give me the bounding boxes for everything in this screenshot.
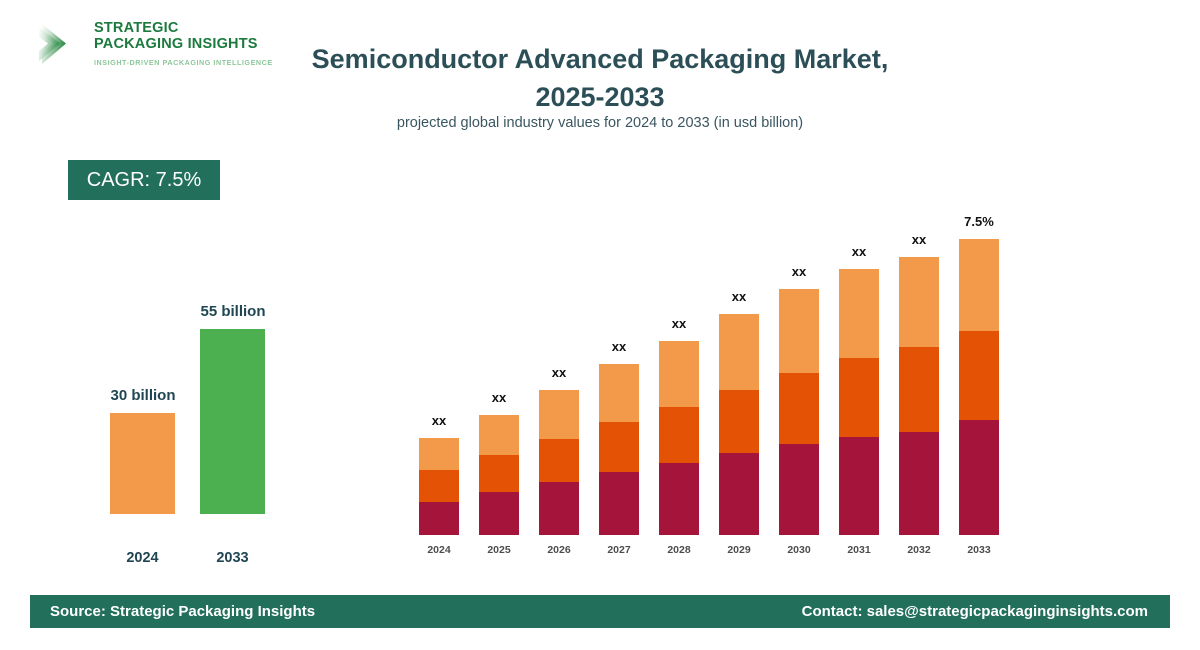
brand-tagline: INSIGHT-DRIVEN PACKAGING INTELLIGENCE bbox=[94, 58, 273, 67]
stacked-bar-value-label: 7.5% bbox=[953, 214, 1005, 229]
stacked-bar[interactable] bbox=[899, 257, 939, 535]
stacked-bar-segment-segment-1[interactable] bbox=[419, 502, 459, 535]
stacked-bar-group: xx2026 bbox=[533, 365, 585, 560]
stacked-bar-value-label: xx bbox=[773, 264, 825, 279]
stacked-bar-value-label: xx bbox=[533, 365, 585, 380]
page-title: Semiconductor Advanced Packaging Market,… bbox=[300, 40, 900, 116]
stacked-bar[interactable] bbox=[599, 364, 639, 535]
stacked-bar-segment-segment-3[interactable] bbox=[899, 257, 939, 347]
stacked-bar-value-label: xx bbox=[893, 232, 945, 247]
stacked-bar-segment-segment-1[interactable] bbox=[899, 432, 939, 535]
stacked-bar-segment-segment-1[interactable] bbox=[479, 492, 519, 535]
comparison-bar[interactable] bbox=[200, 329, 265, 514]
stacked-bar-value-label: xx bbox=[413, 413, 465, 428]
comparison-bar-group: 55 billion2033 bbox=[200, 329, 265, 540]
cagr-badge: CAGR: 7.5% bbox=[68, 160, 220, 200]
stacked-bar-segment-segment-2[interactable] bbox=[779, 373, 819, 444]
stacked-bar-segment-segment-2[interactable] bbox=[419, 470, 459, 502]
stacked-bar-segment-segment-2[interactable] bbox=[839, 358, 879, 437]
stacked-bar-group: xx2027 bbox=[593, 339, 645, 560]
brand-name-line2: PACKAGING INSIGHTS bbox=[94, 37, 273, 53]
stacked-bar-group: xx2031 bbox=[833, 244, 885, 560]
stacked-bar-segment-segment-3[interactable] bbox=[839, 269, 879, 358]
comparison-bar-year-label: 2033 bbox=[200, 550, 265, 566]
stacked-bar-segment-segment-2[interactable] bbox=[599, 422, 639, 472]
stacked-bar-group: xx2030 bbox=[773, 264, 825, 560]
stacked-bar-group: xx2029 bbox=[713, 289, 765, 560]
stacked-bar-segment-segment-3[interactable] bbox=[779, 289, 819, 373]
page-subtitle: projected global industry values for 202… bbox=[250, 115, 950, 131]
stacked-bar-segment-segment-2[interactable] bbox=[899, 347, 939, 432]
stacked-bar-group: 7.5%2033 bbox=[953, 214, 1005, 560]
comparison-bar-value-label: 55 billion bbox=[153, 303, 313, 320]
stacked-bar[interactable] bbox=[839, 269, 879, 535]
stacked-bar[interactable] bbox=[959, 239, 999, 535]
stacked-bar-year-label: 2024 bbox=[413, 544, 465, 556]
footer-contact-text: Contact: sales@strategicpackaginginsight… bbox=[802, 603, 1148, 620]
stacked-bar-segment-segment-2[interactable] bbox=[959, 331, 999, 420]
comparison-bar-chart: 30 billion202455 billion2033 bbox=[50, 310, 300, 570]
stacked-bar-year-label: 2028 bbox=[653, 544, 705, 556]
stacked-bar-group: xx2024 bbox=[413, 413, 465, 560]
stacked-bar-segment-segment-1[interactable] bbox=[779, 444, 819, 535]
stacked-bar[interactable] bbox=[419, 438, 459, 535]
brand-logo: STRATEGIC PACKAGING INSIGHTS INSIGHT-DRI… bbox=[32, 14, 252, 76]
stacked-bar-group: xx2032 bbox=[893, 232, 945, 560]
stacked-bar-segment-segment-3[interactable] bbox=[539, 390, 579, 439]
stacked-bar-value-label: xx bbox=[833, 244, 885, 259]
footer-bar: Source: Strategic Packaging Insights Con… bbox=[30, 595, 1170, 628]
stacked-bar[interactable] bbox=[719, 314, 759, 535]
stacked-bar-segment-segment-3[interactable] bbox=[479, 415, 519, 455]
stacked-bar-segment-segment-1[interactable] bbox=[599, 472, 639, 535]
stacked-bar-segment-segment-2[interactable] bbox=[719, 390, 759, 453]
stacked-bar-segment-segment-2[interactable] bbox=[479, 455, 519, 492]
stacked-bar-segment-segment-1[interactable] bbox=[839, 437, 879, 535]
comparison-bar-group: 30 billion2024 bbox=[110, 413, 175, 540]
comparison-bar-value-label: 30 billion bbox=[63, 387, 223, 404]
stacked-bar-year-label: 2029 bbox=[713, 544, 765, 556]
stacked-bar-segment-segment-2[interactable] bbox=[659, 407, 699, 463]
stacked-bar-segment-segment-2[interactable] bbox=[539, 439, 579, 482]
stacked-bar-chart: xx2024xx2025xx2026xx2027xx2028xx2029xx20… bbox=[405, 200, 1015, 560]
stacked-bar-value-label: xx bbox=[713, 289, 765, 304]
stacked-bar-year-label: 2031 bbox=[833, 544, 885, 556]
footer-source-text: Source: Strategic Packaging Insights bbox=[50, 603, 315, 620]
stacked-bar-year-label: 2027 bbox=[593, 544, 645, 556]
stacked-bar-segment-segment-1[interactable] bbox=[719, 453, 759, 535]
brand-wordmark: STRATEGIC PACKAGING INSIGHTS INSIGHT-DRI… bbox=[94, 21, 273, 67]
stacked-bar-value-label: xx bbox=[593, 339, 645, 354]
stacked-bar-segment-segment-3[interactable] bbox=[959, 239, 999, 331]
stacked-bar-segment-segment-3[interactable] bbox=[599, 364, 639, 422]
stacked-bar-segment-segment-1[interactable] bbox=[659, 463, 699, 535]
stacked-bar-segment-segment-3[interactable] bbox=[719, 314, 759, 390]
brand-name-line1: STRATEGIC bbox=[94, 21, 273, 37]
stacked-bar-year-label: 2026 bbox=[533, 544, 585, 556]
stacked-bar[interactable] bbox=[659, 341, 699, 535]
stacked-bar-year-label: 2030 bbox=[773, 544, 825, 556]
stacked-bar[interactable] bbox=[779, 289, 819, 535]
stacked-bar-year-label: 2032 bbox=[893, 544, 945, 556]
stacked-bar[interactable] bbox=[479, 415, 519, 535]
stacked-bar[interactable] bbox=[539, 390, 579, 535]
stacked-bar-group: xx2028 bbox=[653, 316, 705, 560]
chevron-logo-icon bbox=[36, 18, 88, 70]
comparison-bar-year-label: 2024 bbox=[110, 550, 175, 566]
stacked-bar-year-label: 2033 bbox=[953, 544, 1005, 556]
stacked-bar-segment-segment-1[interactable] bbox=[959, 420, 999, 535]
stacked-bar-segment-segment-3[interactable] bbox=[659, 341, 699, 407]
stacked-bar-year-label: 2025 bbox=[473, 544, 525, 556]
stacked-bar-segment-segment-1[interactable] bbox=[539, 482, 579, 535]
stacked-bar-value-label: xx bbox=[473, 390, 525, 405]
stacked-bar-group: xx2025 bbox=[473, 390, 525, 560]
stacked-bar-value-label: xx bbox=[653, 316, 705, 331]
stacked-bar-segment-segment-3[interactable] bbox=[419, 438, 459, 470]
comparison-bar[interactable] bbox=[110, 413, 175, 514]
